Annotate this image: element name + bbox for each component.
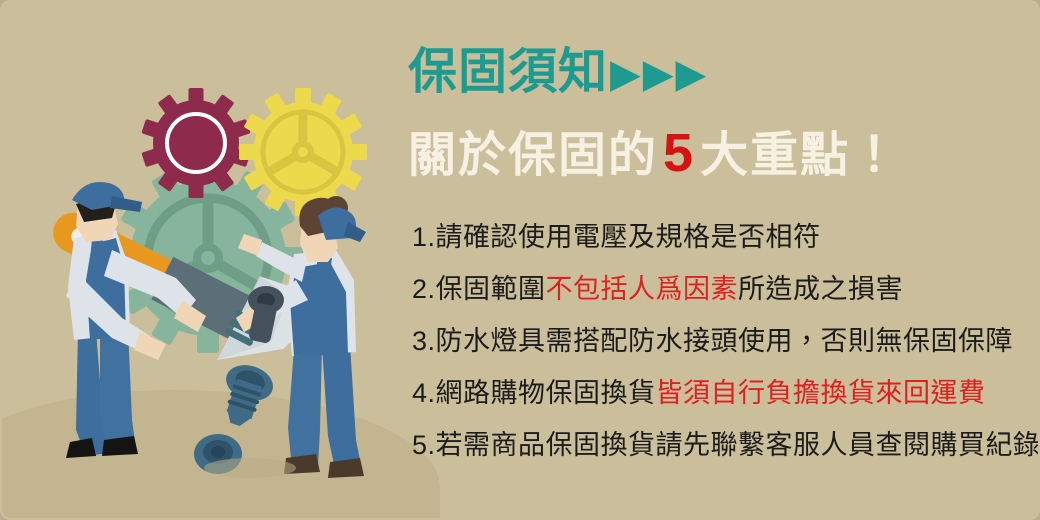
illustration: [0, 0, 420, 520]
headline-primary: 保固須知 ▶▶▶: [408, 48, 708, 97]
list-item-number: 5.: [412, 430, 436, 460]
list-item: 4.網路購物保固換貨皆須自行負擔換貨來回運費: [412, 380, 1040, 407]
list-item: 1.請確認使用電壓及規格是否相符: [412, 224, 1040, 251]
list-item: 3.防水燈具需搭配防水接頭使用，否則無保固保障: [412, 328, 1040, 355]
washer: [194, 434, 296, 478]
list-item-highlight: 皆須自行負擔換貨來回運費: [656, 378, 986, 408]
headline-count: 5: [658, 123, 700, 183]
headline-primary-text: 保固須知: [408, 48, 608, 97]
headline-secondary-prefix: 關於保固的: [408, 129, 658, 182]
list-item-text: 防水燈具需搭配防水接頭使用，否則無保固保障: [436, 326, 1014, 356]
headline-secondary: 關於保固的5大重點！: [408, 126, 900, 180]
list-item-number: 2.: [412, 274, 436, 304]
warranty-points-list: 1.請確認使用電壓及規格是否相符 2.保固範圍不包括人爲因素所造成之損害 3.防…: [412, 224, 1040, 459]
list-item: 5.若需商品保固換貨請先聯繫客服人員查閱購買紀錄: [412, 432, 1040, 459]
list-item-number: 4.: [412, 378, 436, 408]
list-item-text: 保固範圍: [436, 274, 546, 304]
yellow-gear: [239, 88, 367, 216]
list-item-text: 請確認使用電壓及規格是否相符: [436, 222, 821, 252]
list-item: 2.保固範圍不包括人爲因素所造成之損害: [412, 276, 1040, 303]
headline-secondary-suffix: 大重點！: [700, 129, 900, 182]
list-item-text: 網路購物保固換貨: [436, 378, 656, 408]
warranty-banner: 保固須知 ▶▶▶ 關於保固的5大重點！ 1.請確認使用電壓及規格是否相符 2.保…: [0, 0, 1040, 520]
triple-arrow-icon: ▶▶▶: [610, 54, 708, 94]
list-item-text: 所造成之損害: [738, 274, 903, 304]
screw: [213, 359, 278, 432]
list-item-text: 若需商品保固換貨請先聯繫客服人員查閱購買紀錄: [436, 430, 1040, 460]
list-item-number: 1.: [412, 222, 436, 252]
list-item-highlight: 不包括人爲因素: [546, 274, 739, 304]
worker-right: [236, 196, 366, 478]
list-item-number: 3.: [412, 326, 436, 356]
copy-column: 保固須知 ▶▶▶ 關於保固的5大重點！ 1.請確認使用電壓及規格是否相符 2.保…: [408, 0, 1040, 520]
illustration-svg: [0, 0, 420, 520]
